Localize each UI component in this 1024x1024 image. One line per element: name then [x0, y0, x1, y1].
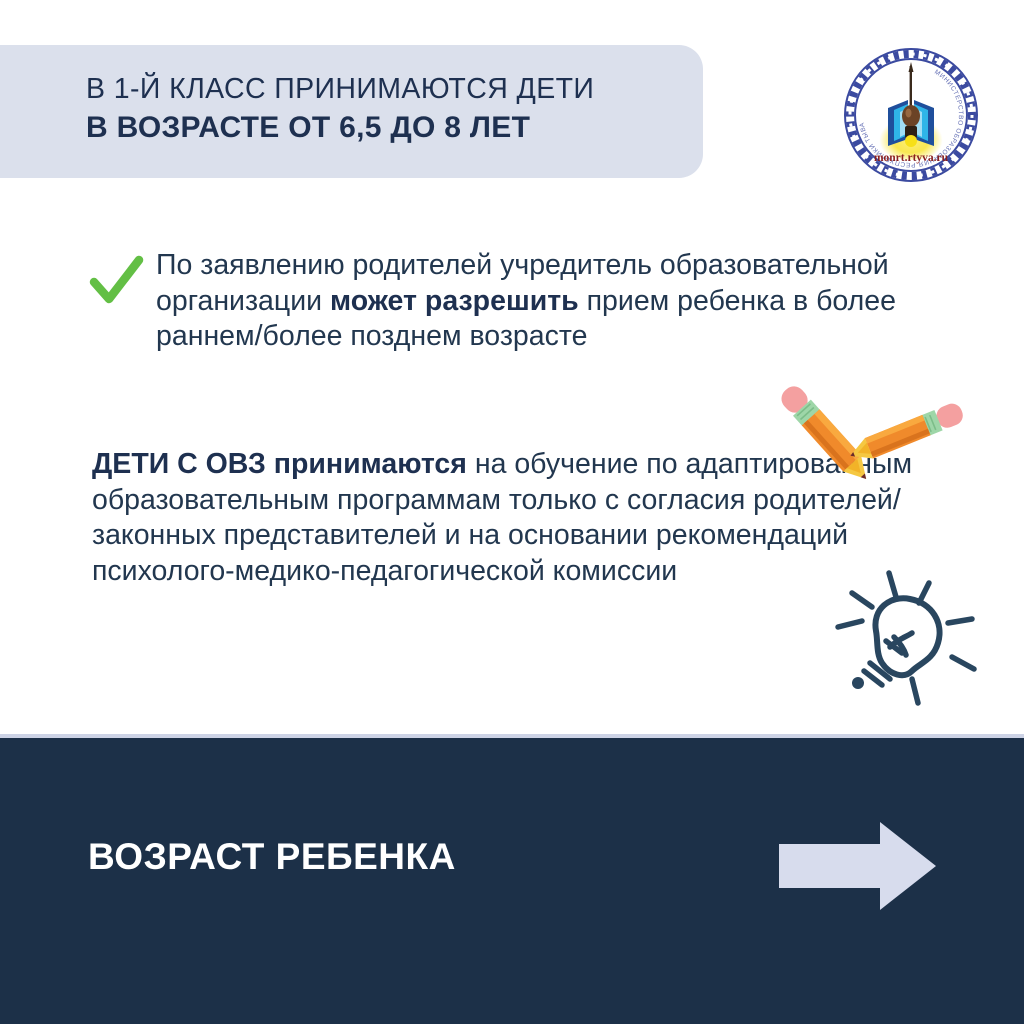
header-title-line-1: В 1-Й КЛАСС ПРИНИМАЮТСЯ ДЕТИ [86, 70, 686, 108]
footer-title: ВОЗРАСТ РЕБЕНКА [88, 836, 456, 878]
header-text-group: В 1-Й КЛАСС ПРИНИМАЮТСЯ ДЕТИ В ВОЗРАСТЕ … [86, 70, 686, 148]
logo-site-text: monrt.rtyva.ru [874, 152, 949, 164]
check-icon [88, 254, 144, 310]
ministry-logo: МИНИСТЕРСТВО ОБРАЗОВАНИЯ РЕСПУБЛИКИ ТЫВА… [838, 42, 984, 188]
infographic-slide: В 1-Й КЛАСС ПРИНИМАЮТСЯ ДЕТИ В ВОЗРАСТЕ … [0, 0, 1024, 1024]
ovz-text-bold: ДЕТИ С ОВЗ принимаются [92, 448, 467, 480]
check-paragraph-block: По заявлению родителей учредитель образо… [88, 248, 938, 355]
arrow-right-icon [779, 818, 936, 914]
check-paragraph-text: По заявлению родителей учредитель образо… [156, 248, 936, 355]
header-title-line-2: В ВОЗРАСТЕ ОТ 6,5 ДО 8 ЛЕТ [86, 108, 686, 148]
lightbulb-icon [824, 557, 992, 709]
check-text-bold: может разрешить [330, 285, 579, 317]
pencils-illustration [762, 372, 988, 488]
